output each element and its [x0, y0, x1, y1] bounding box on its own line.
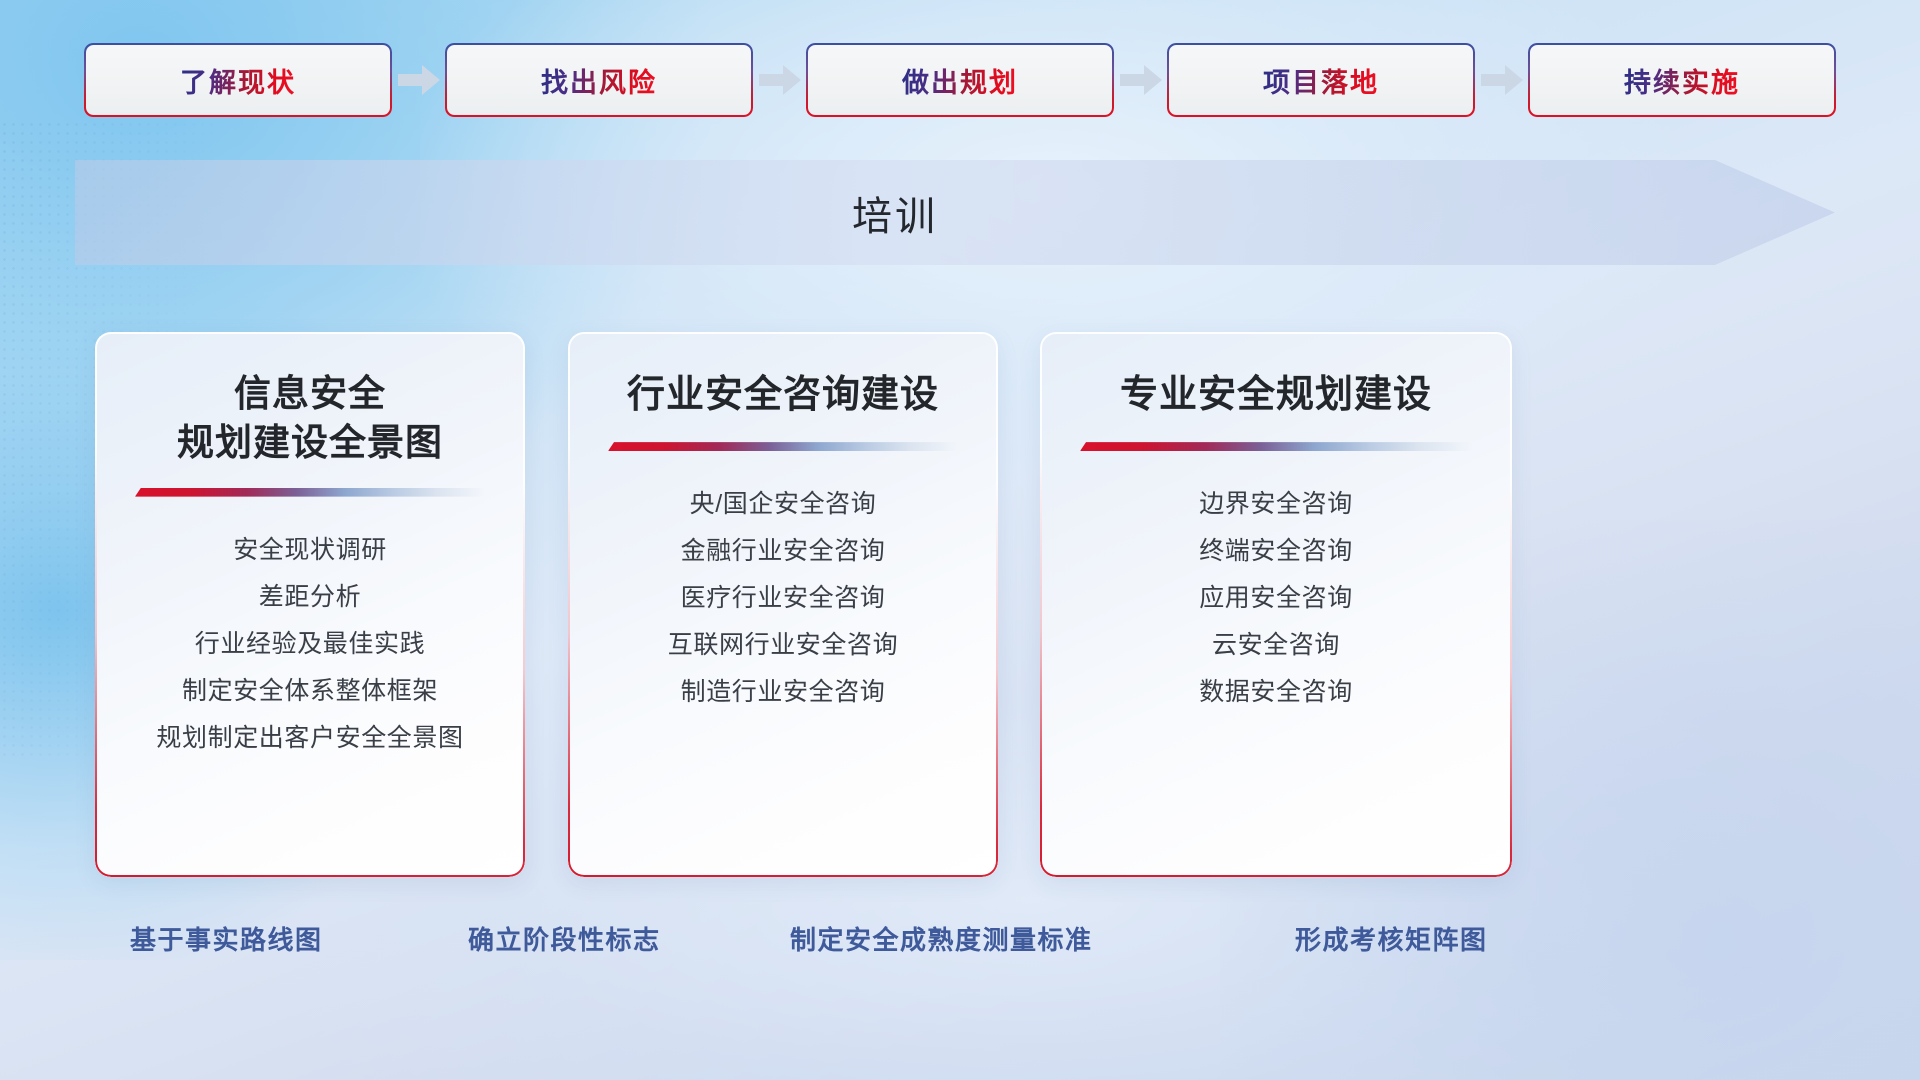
- card-title: 专业安全规划建设: [1120, 370, 1432, 420]
- list-item: 差距分析: [117, 574, 503, 621]
- card-item-list: 安全现状调研 差距分析 行业经验及最佳实践 制定安全体系整体框架 规划制定出客户…: [117, 527, 503, 762]
- caption-item: 确立阶段性标志: [468, 920, 661, 957]
- list-item: 规划制定出客户安全全景图: [117, 715, 503, 762]
- card-item-list: 央/国企安全咨询 金融行业安全咨询 医疗行业安全咨询 互联网行业安全咨询 制造行…: [590, 481, 976, 716]
- training-banner: 培训: [75, 160, 1835, 265]
- list-item: 安全现状调研: [117, 527, 503, 574]
- list-item: 制造行业安全咨询: [590, 669, 976, 716]
- caption-item: 形成考核矩阵图: [1295, 920, 1488, 957]
- arrow-right-icon: [398, 65, 440, 95]
- step-arrow-2: [752, 0, 808, 160]
- list-item: 医疗行业安全咨询: [590, 575, 976, 622]
- step-label: 了解现状: [180, 61, 296, 100]
- step-box-1[interactable]: 了解现状: [86, 45, 391, 115]
- step-box-3[interactable]: 做出规划: [808, 45, 1113, 115]
- card-item-list: 边界安全咨询 终端安全咨询 应用安全咨询 云安全咨询 数据安全咨询: [1062, 481, 1490, 716]
- list-item: 边界安全咨询: [1062, 481, 1490, 528]
- caption-row: 基于事实路线图 确立阶段性标志 制定安全成熟度测量标准 形成考核矩阵图: [0, 920, 1920, 990]
- process-step-row: 了解现状 找出风险 做出规划 项目落地 持续实施: [0, 0, 1920, 160]
- list-item: 制定安全体系整体框架: [117, 668, 503, 715]
- card-information-security-blueprint[interactable]: 信息安全 规划建设全景图 安全现状调研 差距分析 行业经验及最佳实践 制定安全体…: [95, 332, 525, 877]
- step-label: 持续实施: [1624, 61, 1740, 100]
- card-row: 信息安全 规划建设全景图 安全现状调研 差距分析 行业经验及最佳实践 制定安全体…: [0, 332, 1920, 877]
- step-arrow-3: [1113, 0, 1169, 160]
- step-box-4[interactable]: 项目落地: [1169, 45, 1474, 115]
- step-arrow-4: [1474, 0, 1530, 160]
- list-item: 金融行业安全咨询: [590, 528, 976, 575]
- list-item: 央/国企安全咨询: [590, 481, 976, 528]
- arrow-right-icon: [1120, 65, 1162, 95]
- card-professional-security-planning[interactable]: 专业安全规划建设 边界安全咨询 终端安全咨询 应用安全咨询 云安全咨询 数据安全…: [1040, 332, 1512, 877]
- arrow-right-icon: [1481, 65, 1523, 95]
- card-divider: [608, 442, 958, 451]
- caption-item: 基于事实路线图: [130, 920, 323, 957]
- list-item: 互联网行业安全咨询: [590, 622, 976, 669]
- step-label: 项目落地: [1263, 61, 1379, 100]
- step-box-2[interactable]: 找出风险: [447, 45, 752, 115]
- arrow-right-icon: [759, 65, 801, 95]
- list-item: 行业经验及最佳实践: [117, 621, 503, 668]
- list-item: 云安全咨询: [1062, 622, 1490, 669]
- card-title: 行业安全咨询建设: [627, 370, 939, 420]
- step-label: 做出规划: [902, 61, 1018, 100]
- step-arrow-1: [391, 0, 447, 160]
- step-box-5[interactable]: 持续实施: [1530, 45, 1835, 115]
- banner-title: 培训: [75, 160, 1835, 265]
- card-divider: [135, 488, 485, 497]
- card-industry-security-consulting[interactable]: 行业安全咨询建设 央/国企安全咨询 金融行业安全咨询 医疗行业安全咨询 互联网行…: [568, 332, 998, 877]
- step-label: 找出风险: [541, 61, 657, 100]
- card-title: 信息安全 规划建设全景图: [177, 370, 443, 468]
- list-item: 数据安全咨询: [1062, 669, 1490, 716]
- list-item: 应用安全咨询: [1062, 575, 1490, 622]
- list-item: 终端安全咨询: [1062, 528, 1490, 575]
- card-divider: [1080, 442, 1472, 451]
- caption-item: 制定安全成熟度测量标准: [790, 920, 1093, 957]
